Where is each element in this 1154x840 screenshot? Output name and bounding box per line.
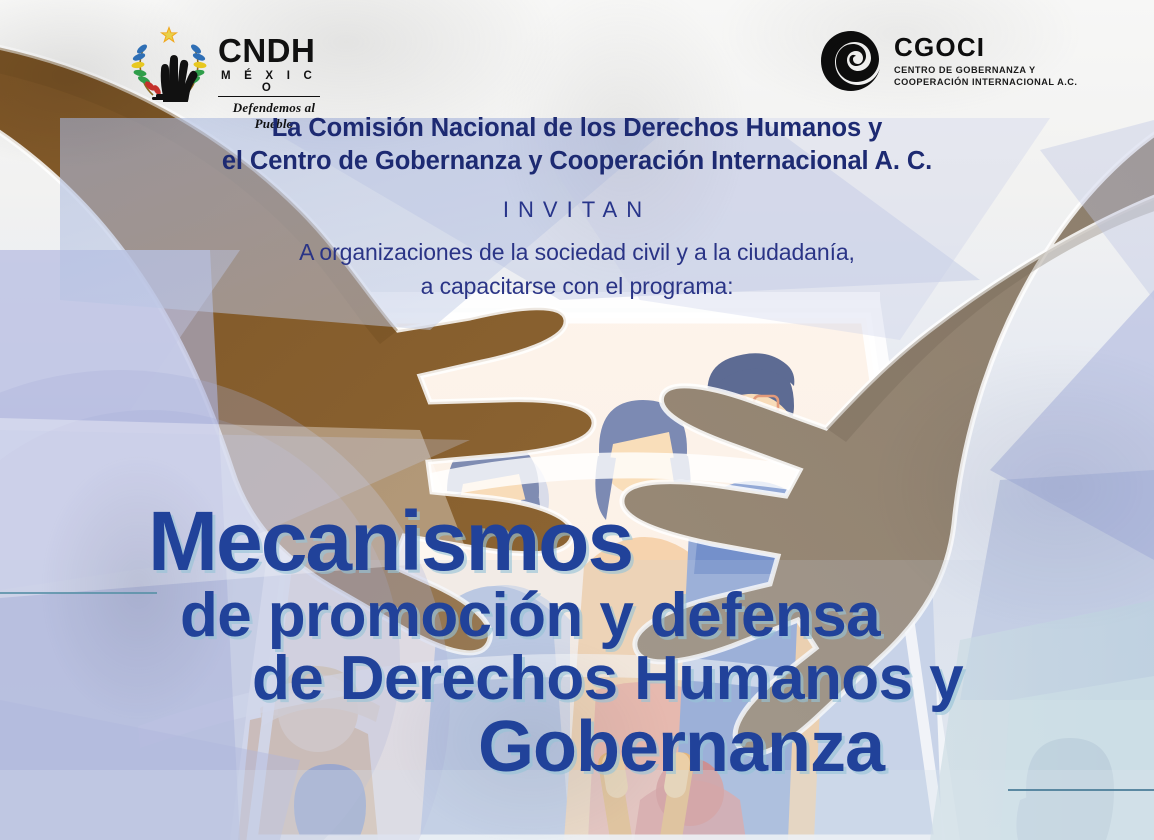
hand-laurel-star-emblem xyxy=(128,26,210,102)
cgoci-wordmark: CGOCI CENTRO DE GOBERNANZA Y COOPERACIÓN… xyxy=(894,30,1077,89)
title-line-1: Mecanismos xyxy=(0,500,1154,582)
cgoci-name: CGOCI xyxy=(894,34,1077,60)
invite-line-1: A organizaciones de la sociedad civil y … xyxy=(0,236,1154,269)
program-title: Mecanismos de promoción y defensa de Der… xyxy=(0,500,1154,782)
cndh-country: M É X I C O xyxy=(218,70,320,97)
title-line-3: de Derechos Humanos y xyxy=(0,649,1154,710)
intro-block: La Comisión Nacional de los Derechos Hum… xyxy=(0,112,1154,303)
poster-canvas: CNDH M É X I C O Defendemos al Pueblo CG… xyxy=(0,0,1154,840)
cgoci-subtitle-line1: CENTRO DE GOBERNANZA Y xyxy=(894,64,1077,76)
organizers-line-1: La Comisión Nacional de los Derechos Hum… xyxy=(0,112,1154,145)
invitan-label: INVITAN xyxy=(0,197,1154,223)
accent-rule-right xyxy=(1008,789,1154,791)
cgoci-subtitle: CENTRO DE GOBERNANZA Y COOPERACIÓN INTER… xyxy=(894,64,1077,89)
invite-line-2: a capacitarse con el programa: xyxy=(0,270,1154,303)
cgoci-subtitle-line2: COOPERACIÓN INTERNACIONAL A.C. xyxy=(894,76,1077,88)
title-line-4: Gobernanza xyxy=(0,712,1154,783)
spiral-shell-icon xyxy=(820,30,882,92)
cgoci-logo: CGOCI CENTRO DE GOBERNANZA Y COOPERACIÓN… xyxy=(820,30,1077,92)
logo-row: CNDH M É X I C O Defendemos al Pueblo CG… xyxy=(0,0,1154,110)
organizers-line-2: el Centro de Gobernanza y Cooperación In… xyxy=(0,145,1154,178)
title-line-2: de promoción y defensa xyxy=(0,586,1154,647)
cndh-name: CNDH xyxy=(218,34,330,67)
